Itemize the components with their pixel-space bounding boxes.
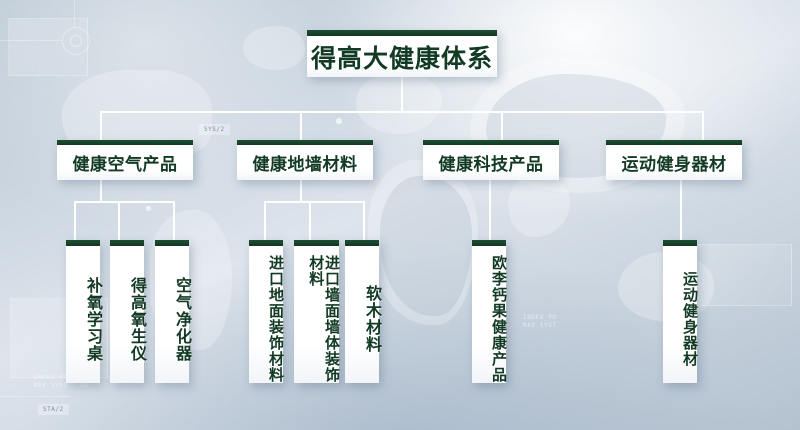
map-shape-greenland [243,26,305,70]
node-level2-wall[interactable]: 健康地墙材料 [237,140,373,180]
connector-air-stem [100,180,102,202]
node-level3-imported-wall-label: 进口墙面墙体装饰材料 [294,246,339,383]
map-shape-india [508,175,570,237]
node-level3-oxygen-desk-label: 补氧学习桌 [66,246,100,383]
hud-line-bottom [0,396,70,397]
connector-drop-air [100,111,102,140]
node-level2-fit[interactable]: 运动健身器材 [606,140,742,180]
node-level3-imported-wall[interactable]: 进口墙面墙体装饰材料 [294,240,339,383]
connector-air-child-3 [173,201,175,240]
hud-ring-icon [62,27,90,55]
node-level3-cork-material[interactable]: 软木材料 [345,240,379,383]
map-shape-africa [368,160,478,325]
node-level2-tech-label: 健康科技产品 [423,145,559,180]
hud-diagonal-right [585,4,617,63]
node-level3-oxygen-generator-label: 得高氧生仪 [110,246,144,383]
map-shape-europe [356,72,442,134]
hud-text-nav-right: NAV SYST [523,322,557,330]
connector-wall-child-3 [363,201,365,240]
connector-wall-child-1 [264,201,266,240]
connector-wall-stem [300,180,302,202]
node-level2-tech[interactable]: 健康科技产品 [423,140,559,180]
connector-fit-stem [680,180,682,240]
hud-dot-c-icon [146,206,151,211]
hud-chip-sys: SYS/2 [199,124,230,135]
connector-wall-child-2 [309,201,311,240]
node-level3-fitness-equipment-label: 运动健身器材 [663,246,697,383]
hud-ring-inner-icon [70,35,82,47]
connector-tech-stem [489,180,491,240]
node-level3-oxygen-desk[interactable]: 补氧学习桌 [66,240,100,383]
hud-line-horizontal [0,40,62,41]
hud-panel-right [690,244,792,306]
hud-text-nav-sys: NAV SYS1 : OK [34,382,89,390]
node-level3-cork-material-label: 软木材料 [345,246,379,383]
hud-dot-a-icon [336,118,342,124]
diagram-canvas: INDEX_POINT NAV SYS1 : OK STA/2 SYS/2 IN… [0,0,800,430]
node-level2-fit-label: 运动健身器材 [606,145,742,180]
node-level3-air-purifier[interactable]: 空气净化器 [155,240,189,383]
node-level3-calcium-fruit-label: 欧李钙果健康产品 [472,246,506,383]
node-level2-air-label: 健康空气产品 [57,145,193,180]
node-level3-calcium-fruit[interactable]: 欧李钙果健康产品 [472,240,506,383]
map-shadow-africa [380,176,472,316]
node-level3-fitness-equipment[interactable]: 运动健身器材 [663,240,697,383]
connector-drop-wall [300,111,302,140]
connector-root-stem [401,77,403,112]
hud-text-index-right: INDEX_PO [523,314,557,322]
hud-chip-sta: STA/2 [38,404,69,415]
node-level3-imported-floor[interactable]: 进口地面装饰材料 [249,240,283,383]
connector-drop-tech [501,111,503,140]
connector-air-child-1 [74,201,76,240]
node-root-label: 得高大健康体系 [307,36,497,77]
connector-wall-bus [264,201,365,203]
node-level2-wall-label: 健康地墙材料 [237,145,373,180]
connector-air-bus [74,201,175,203]
node-level3-oxygen-generator[interactable]: 得高氧生仪 [110,240,144,383]
connector-level2-bus [100,111,704,113]
node-level2-air[interactable]: 健康空气产品 [57,140,193,180]
connector-air-child-2 [118,201,120,240]
node-root[interactable]: 得高大健康体系 [307,30,497,77]
node-level3-air-purifier-label: 空气净化器 [155,246,189,383]
connector-drop-fit [702,111,704,140]
node-level3-imported-floor-label: 进口地面装饰材料 [249,246,283,383]
hud-panel-left [8,18,88,76]
hud-line-vertical [74,0,75,27]
